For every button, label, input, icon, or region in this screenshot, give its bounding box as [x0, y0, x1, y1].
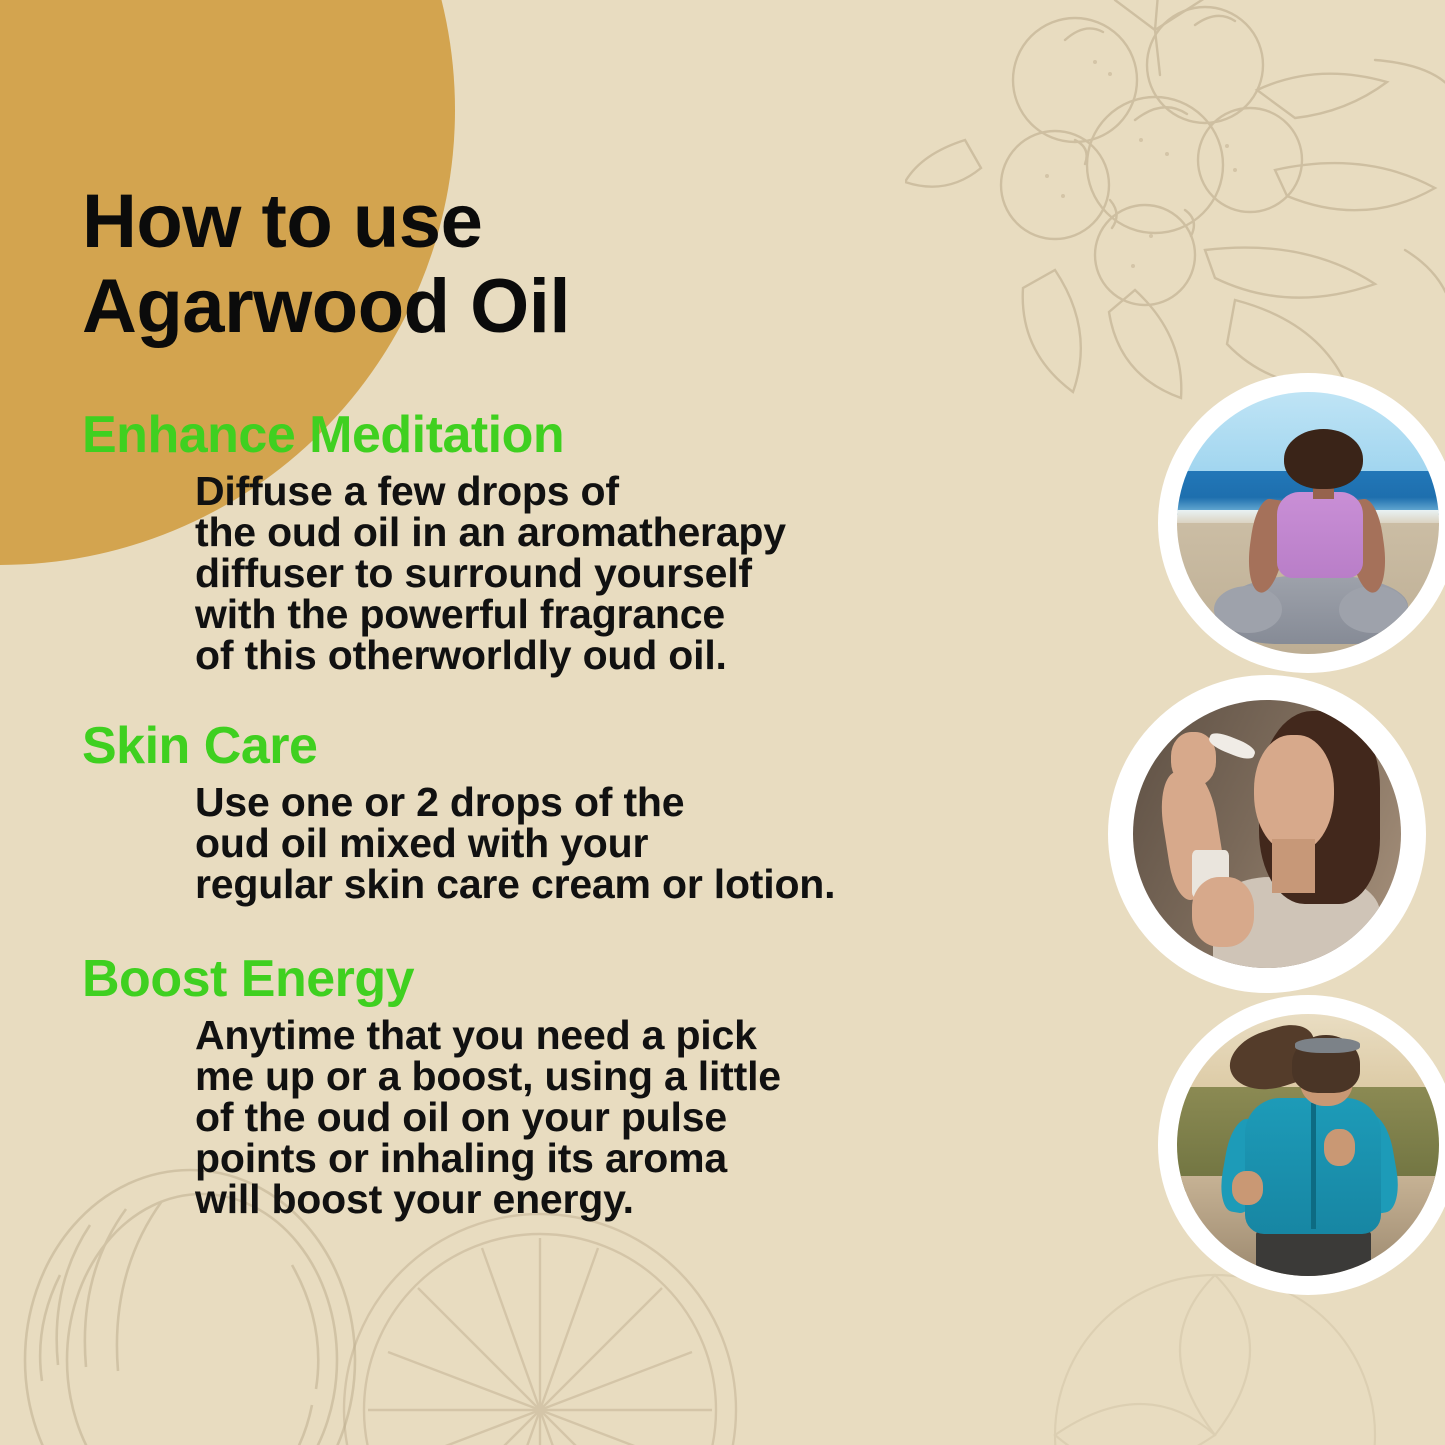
section-heading: Skin Care	[0, 720, 1060, 772]
photo-skincare-image	[1133, 700, 1401, 968]
poster-canvas: How to use Agarwood Oil Enhance Meditati…	[0, 0, 1445, 1445]
section-enhance-meditation: Enhance Meditation Diffuse a few drops o…	[0, 409, 1060, 676]
lemon-slice-watermark-icon	[330, 1200, 750, 1445]
photo-meditation	[1158, 373, 1445, 673]
section-boost-energy: Boost Energy Anytime that you need a pic…	[0, 953, 1060, 1220]
sections-list: Enhance Meditation Diffuse a few drops o…	[0, 405, 1060, 1220]
section-body: Use one or 2 drops of the oud oil mixed …	[0, 782, 1060, 905]
photo-meditation-image	[1177, 392, 1439, 654]
botanical-watermark-icon	[905, 0, 1445, 400]
photo-energy-image	[1177, 1014, 1439, 1276]
section-heading: Enhance Meditation	[0, 409, 1060, 461]
photo-skincare	[1108, 675, 1426, 993]
section-heading: Boost Energy	[0, 953, 1060, 1005]
page-title: How to use Agarwood Oil	[82, 179, 942, 349]
section-body: Diffuse a few drops of the oud oil in an…	[0, 471, 1060, 676]
section-body: Anytime that you need a pick me up or a …	[0, 1015, 1060, 1220]
section-skin-care: Skin Care Use one or 2 drops of the oud …	[0, 720, 1060, 905]
photo-energy	[1158, 995, 1445, 1295]
